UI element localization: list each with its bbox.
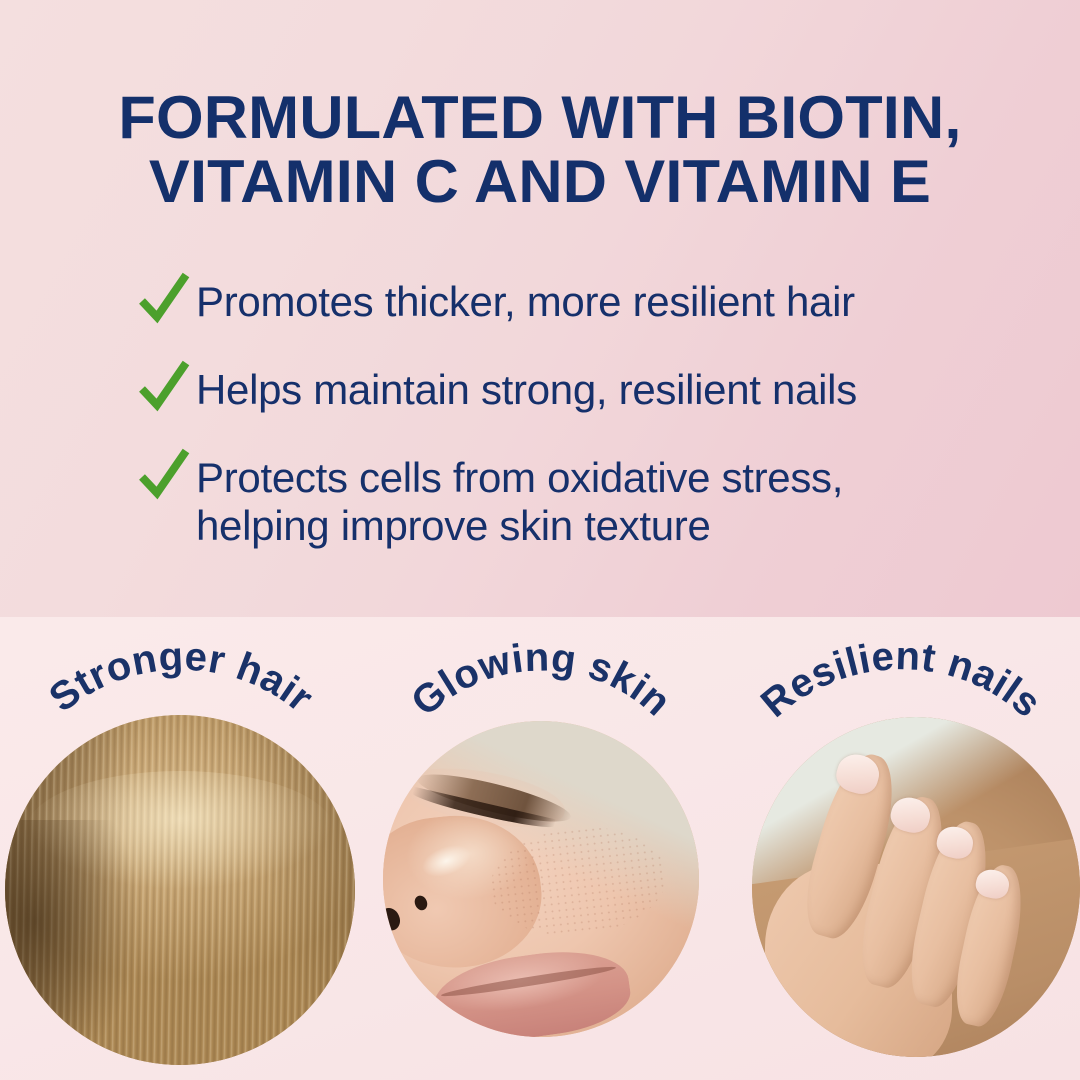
headline-line-2: VITAMIN C AND VITAMIN E: [0, 150, 1080, 214]
hair-parting: [5, 883, 355, 1065]
skin-caption-text: Glowing skin: [403, 636, 679, 725]
hand: [759, 758, 1061, 1057]
nostril: [383, 904, 404, 933]
page-title: FORMULATED WITH BIOTIN, VITAMIN C AND VI…: [0, 86, 1080, 214]
headline-line-1: FORMULATED WITH BIOTIN,: [0, 86, 1080, 150]
svg-text:Stronger hair: Stronger hair: [41, 634, 321, 720]
svg-text:Glowing skin: Glowing skin: [403, 636, 679, 725]
benefit-text: Promotes thicker, more resilient hair: [196, 276, 855, 326]
benefit-text: Helps maintain strong, resilient nails: [196, 364, 857, 414]
benefit-text-line-1: Protects cells from oxidative stress,: [196, 454, 843, 501]
benefit-text-line-2: helping improve skin texture: [196, 502, 843, 550]
product-benefits-infographic: FORMULATED WITH BIOTIN, VITAMIN C AND VI…: [0, 0, 1080, 1080]
benefit-item: Protects cells from oxidative stress, he…: [138, 452, 998, 550]
check-icon: [138, 448, 190, 502]
skin-image: [383, 721, 699, 1037]
benefit-text-line-1: Promotes thicker, more resilient hair: [196, 278, 855, 325]
check-icon: [138, 360, 190, 414]
nails-image: [752, 717, 1080, 1057]
hair-caption-text: Stronger hair: [41, 634, 321, 720]
nails-caption-text: Resilient nails: [753, 634, 1050, 726]
benefit-images-panel: Stronger hair: [0, 617, 1080, 1080]
benefits-list: Promotes thicker, more resilient hair He…: [138, 276, 998, 550]
benefit-tile-hair: Stronger hair: [0, 617, 360, 1080]
nostril: [412, 893, 429, 912]
check-icon: [138, 272, 190, 326]
benefit-tile-skin: Glowing skin: [360, 617, 720, 1080]
svg-text:Resilient nails: Resilient nails: [753, 634, 1050, 726]
benefit-text: Protects cells from oxidative stress, he…: [196, 452, 843, 550]
benefit-item: Helps maintain strong, resilient nails: [138, 364, 998, 420]
benefit-tile-nails: Resilient nails: [720, 617, 1080, 1080]
benefit-item: Promotes thicker, more resilient hair: [138, 276, 998, 332]
benefit-text-line-1: Helps maintain strong, resilient nails: [196, 366, 857, 413]
headline-panel: FORMULATED WITH BIOTIN, VITAMIN C AND VI…: [0, 0, 1080, 617]
hair-image: [5, 715, 355, 1065]
